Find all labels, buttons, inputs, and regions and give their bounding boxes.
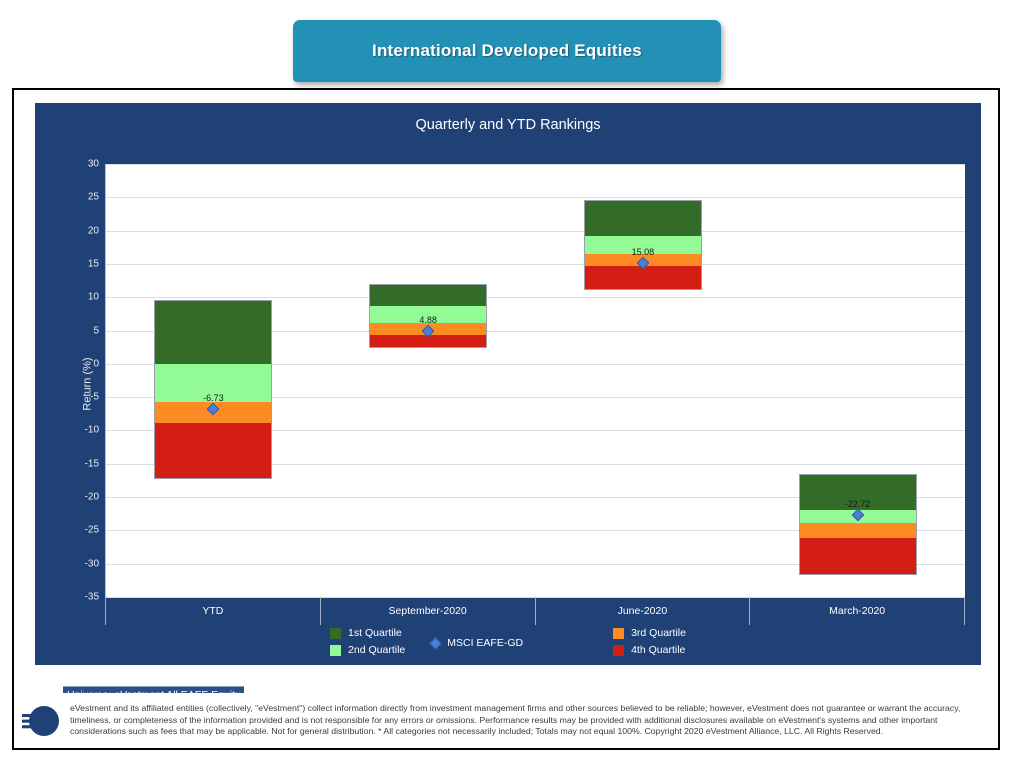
y-axis-tick-label: -10 xyxy=(85,425,99,436)
chart-panel: Quarterly and YTD Rankings Return (%) 30… xyxy=(35,103,981,665)
legend-swatch-1st-quartile xyxy=(330,628,341,639)
x-axis-category-4: March-2020 xyxy=(749,597,964,625)
gridline xyxy=(106,297,965,298)
x-axis-end-tick xyxy=(964,597,965,625)
y-axis-tick-label: 15 xyxy=(88,258,99,269)
quartile-segment-q4 xyxy=(800,538,916,573)
y-axis-tick-label: -25 xyxy=(85,525,99,536)
legend-item-2nd-quartile: 2nd Quartile xyxy=(330,644,405,656)
y-axis-tick-label: 5 xyxy=(93,325,99,336)
benchmark-value-label: -6.73 xyxy=(203,393,224,403)
quartile-segment-q4 xyxy=(155,423,271,478)
plot-area: 302520151050-5-10-15-20-25-30-35-6.734.8… xyxy=(105,164,965,597)
x-axis-category-label: March-2020 xyxy=(829,605,885,617)
legend-label-1st-quartile: 1st Quartile xyxy=(348,627,402,639)
evestment-logo-icon xyxy=(14,701,70,741)
y-axis-tick-label: 20 xyxy=(88,225,99,236)
benchmark-value-label: 15.08 xyxy=(632,247,655,257)
legend-swatch-3rd-quartile xyxy=(613,628,624,639)
legend-column-left: 1st Quartile 2nd Quartile xyxy=(330,627,405,656)
x-axis-category-label: YTD xyxy=(202,605,223,617)
x-axis-category-label: September-2020 xyxy=(389,605,467,617)
legend-label-benchmark: MSCI EAFE-GD xyxy=(447,637,523,649)
disclaimer-bar: eVestment and its affiliated entities (c… xyxy=(12,693,1000,750)
legend-swatch-2nd-quartile xyxy=(330,645,341,656)
gridline xyxy=(106,264,965,265)
page-title-banner: International Developed Equities xyxy=(293,20,721,82)
legend-item-benchmark: MSCI EAFE-GD xyxy=(431,637,523,649)
gridline xyxy=(106,197,965,198)
x-axis-category-3: June-2020 xyxy=(535,597,750,625)
x-axis-category-2: September-2020 xyxy=(320,597,535,625)
quartile-bar[interactable] xyxy=(155,301,271,478)
legend-column-middle: MSCI EAFE-GD xyxy=(405,627,549,649)
y-axis-tick-label: -35 xyxy=(85,592,99,603)
x-axis-categories: YTDSeptember-2020June-2020March-2020 xyxy=(105,597,965,625)
quartile-bar[interactable] xyxy=(800,475,916,574)
y-axis-tick-label: -5 xyxy=(90,392,99,403)
legend-swatch-4th-quartile xyxy=(613,645,624,656)
legend-column-right: 3rd Quartile 4th Quartile xyxy=(613,627,686,656)
benchmark-value-label: -22.72 xyxy=(845,499,871,509)
y-axis-tick-label: 0 xyxy=(93,358,99,369)
quartile-segment-q1 xyxy=(155,301,271,364)
quartile-segment-q1 xyxy=(585,201,701,236)
x-axis-category-label: June-2020 xyxy=(618,605,668,617)
x-axis-category-1: YTD xyxy=(105,597,320,625)
legend-item-4th-quartile: 4th Quartile xyxy=(613,644,686,656)
gridline xyxy=(106,231,965,232)
y-axis-tick-label: -30 xyxy=(85,558,99,569)
diamond-icon xyxy=(429,637,442,650)
gridline xyxy=(106,164,965,165)
chart-card: Quarterly and YTD Rankings Return (%) 30… xyxy=(12,88,1000,750)
legend-label-2nd-quartile: 2nd Quartile xyxy=(348,644,405,656)
legend-item-3rd-quartile: 3rd Quartile xyxy=(613,627,686,639)
legend-item-1st-quartile: 1st Quartile xyxy=(330,627,405,639)
y-axis-tick-label: -20 xyxy=(85,492,99,503)
legend-label-3rd-quartile: 3rd Quartile xyxy=(631,627,686,639)
legend-label-4th-quartile: 4th Quartile xyxy=(631,644,685,656)
y-axis-tick-label: -15 xyxy=(85,458,99,469)
chart-title: Quarterly and YTD Rankings xyxy=(35,117,981,133)
y-axis-tick-label: 30 xyxy=(88,159,99,170)
quartile-segment-q3 xyxy=(800,523,916,538)
quartile-segment-q1 xyxy=(370,285,486,306)
screenshot-root: International Developed Equities Quarter… xyxy=(0,0,1012,762)
benchmark-value-label: 4.88 xyxy=(419,315,437,325)
page-title: International Developed Equities xyxy=(372,41,642,61)
disclaimer-text: eVestment and its affiliated entities (c… xyxy=(70,703,998,738)
y-axis-tick-label: 10 xyxy=(88,292,99,303)
y-axis-tick-label: 25 xyxy=(88,192,99,203)
chart-legend: 1st Quartile 2nd Quartile MSCI EAFE-GD xyxy=(35,627,981,656)
quartile-bar[interactable] xyxy=(585,201,701,290)
